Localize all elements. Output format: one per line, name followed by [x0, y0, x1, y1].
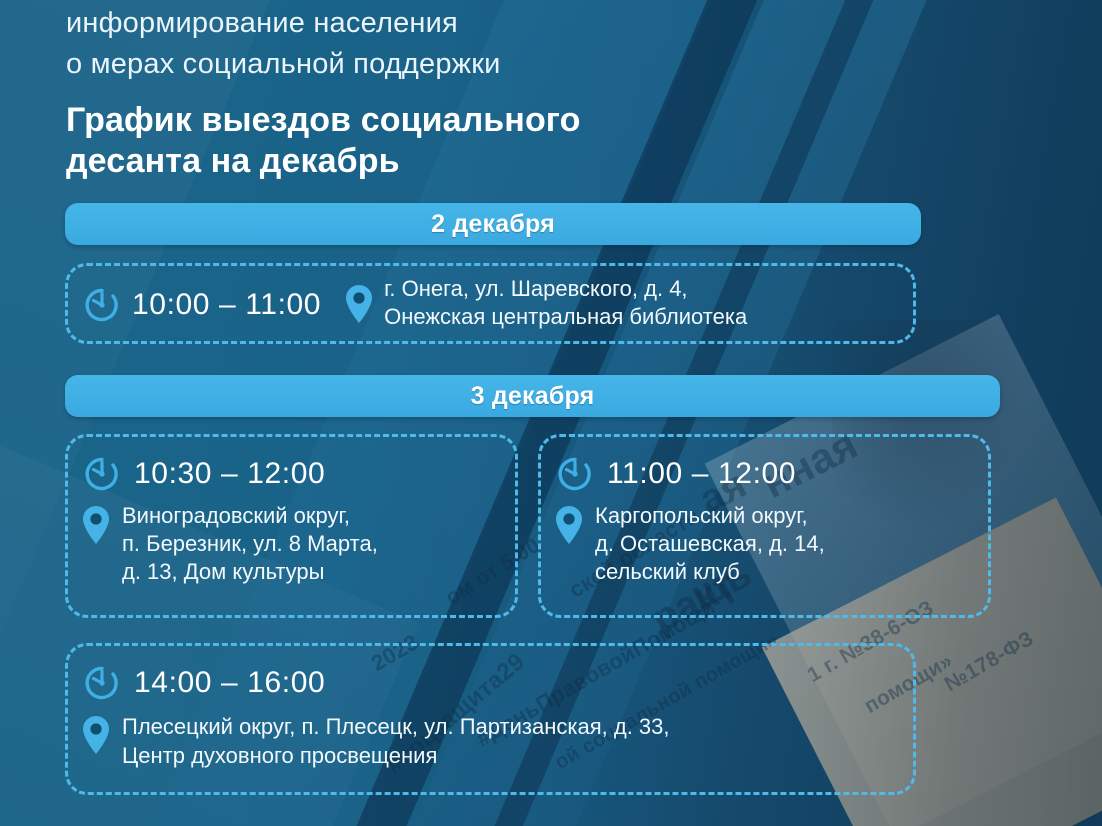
header-subtitle-line1: информирование населения [66, 6, 966, 41]
date-band-2-december: 2 декабря [65, 203, 921, 245]
schedule-card[interactable]: 10:00 – 11:00 г. Онега, ул. Шаревского, … [65, 263, 916, 344]
entry-time: 14:00 – 16:00 [134, 666, 325, 700]
header-subtitle-line2: о мерах социальной поддержки [66, 47, 966, 82]
entry-time: 10:30 – 12:00 [134, 457, 325, 491]
entry-address-line3: сельский клуб [595, 558, 825, 586]
poster-canvas: нная ая щь ракт #соцзащита29 #ДеньПравов… [0, 0, 1102, 826]
clock-icon [82, 454, 122, 494]
entry-address-line1: Каргопольский округ, [595, 502, 825, 530]
background-watermark-text: №178-ФЗ [941, 627, 1038, 697]
date-band-label: 3 декабря [471, 382, 595, 411]
entry-time: 10:00 – 11:00 [132, 288, 321, 322]
schedule-card[interactable]: 14:00 – 16:00 Плесецкий округ, п. Плесец… [65, 643, 916, 795]
map-pin-icon [343, 283, 375, 325]
entry-address-line1: Виноградовский округ, [122, 502, 378, 530]
entry-address-line2: д. Осташевская, д. 14, [595, 530, 825, 558]
date-band-label: 2 декабря [431, 210, 555, 239]
schedule-card[interactable]: 11:00 – 12:00 Каргопольский округ, д. Ос… [538, 434, 991, 618]
map-pin-icon [80, 714, 112, 756]
poster-header: информирование населения о мерах социаль… [66, 0, 966, 182]
entry-address-line1: г. Онега, ул. Шаревского, д. 4, [384, 275, 747, 303]
entry-address-line2: п. Березник, ул. 8 Марта, [122, 530, 378, 558]
page-title-line2: десанта на декабрь [66, 141, 966, 182]
entry-address-line2: Онежская центральная библиотека [384, 303, 747, 331]
entry-address-line1: Плесецкий округ, п. Плесецк, ул. Партиза… [122, 712, 670, 741]
map-pin-icon [553, 504, 585, 546]
map-pin-icon [80, 504, 112, 546]
date-band-3-december: 3 декабря [65, 375, 1000, 417]
schedule-card[interactable]: 10:30 – 12:00 Виноградовский округ, п. Б… [65, 434, 518, 618]
entry-time: 11:00 – 12:00 [607, 457, 796, 491]
clock-icon [555, 454, 595, 494]
entry-address-line2: Центр духовного просвещения [122, 741, 670, 770]
clock-icon [82, 285, 122, 325]
entry-address-line3: д. 13, Дом культуры [122, 558, 378, 586]
clock-icon [82, 663, 122, 703]
page-title-line1: График выездов социального [66, 100, 966, 141]
